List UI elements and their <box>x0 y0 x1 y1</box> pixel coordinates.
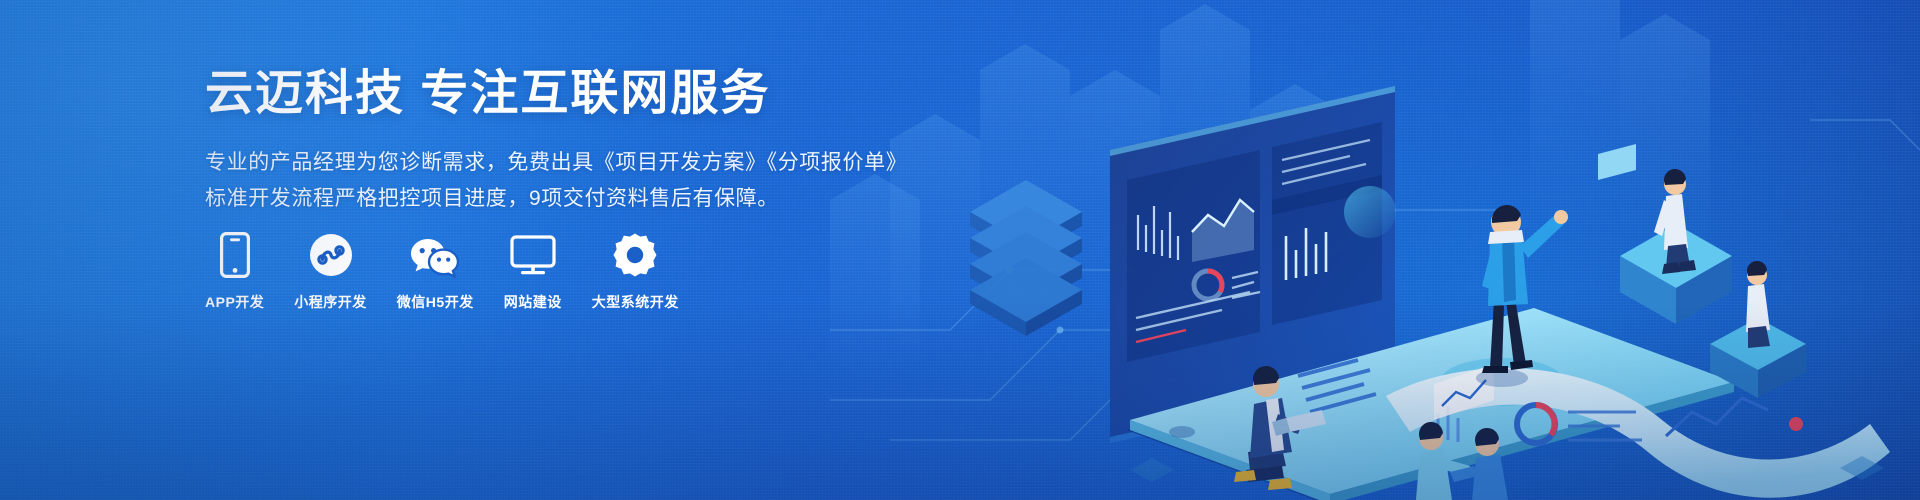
service-label: 网站建设 <box>504 292 562 312</box>
service-label: APP开发 <box>205 292 264 312</box>
service-item-large-system[interactable]: 大型系统开发 <box>592 232 679 312</box>
mini-program-icon <box>309 232 353 278</box>
service-item-app[interactable]: APP开发 <box>205 232 264 312</box>
isometric-illustration <box>830 0 1920 500</box>
hero-subtitle: 专业的产品经理为您诊断需求，免费出具《项目开发方案》《分项报价单》 标准开发流程… <box>205 145 905 217</box>
service-label: 小程序开发 <box>294 292 367 312</box>
page-title: 云迈科技 专注互联网服务 <box>205 66 905 123</box>
service-list: APP开发 小程序开发 <box>205 232 679 312</box>
service-label: 微信H5开发 <box>397 292 474 312</box>
service-item-mini-program[interactable]: 小程序开发 <box>294 232 367 312</box>
monitor-icon <box>510 232 556 278</box>
service-item-wechat-h5[interactable]: 微信H5开发 <box>397 232 474 312</box>
gear-icon <box>612 232 658 278</box>
scroll-accent-dot <box>1789 417 1803 431</box>
wechat-icon <box>409 232 461 278</box>
subtitle-line-2: 标准开发流程严格把控项目进度，9项交付资料售后有保障。 <box>205 181 905 217</box>
hero-copy: 云迈科技 专注互联网服务 专业的产品经理为您诊断需求，免费出具《项目开发方案》《… <box>205 66 905 217</box>
hero-banner: 云迈科技 专注互联网服务 专业的产品经理为您诊断需求，免费出具《项目开发方案》《… <box>0 0 1920 500</box>
service-item-website[interactable]: 网站建设 <box>504 232 562 312</box>
server-stack <box>970 180 1082 336</box>
subtitle-line-1: 专业的产品经理为您诊断需求，免费出具《项目开发方案》《分项报价单》 <box>205 145 905 181</box>
service-label: 大型系统开发 <box>592 292 679 312</box>
mobile-phone-icon <box>220 232 250 278</box>
